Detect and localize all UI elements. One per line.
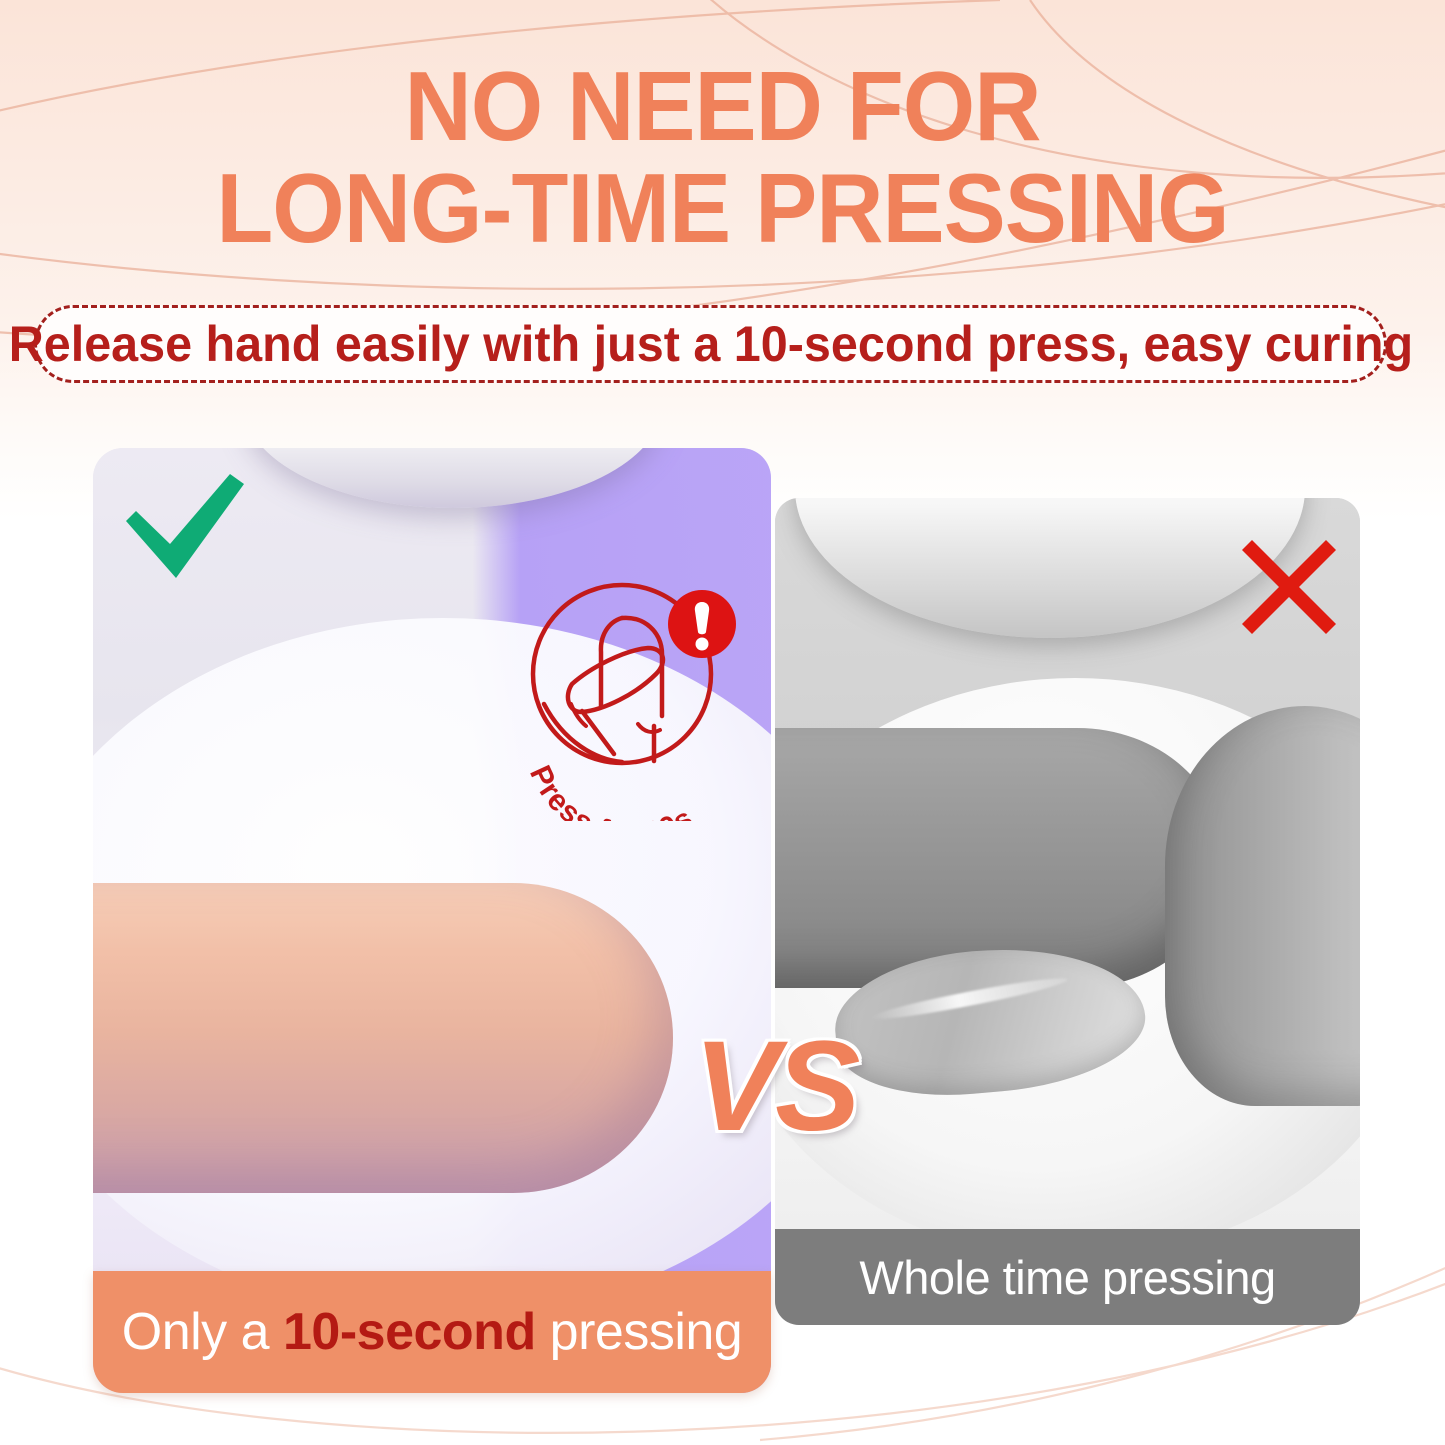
svg-text:Press for 10s: Press for 10s	[523, 761, 699, 821]
pressing-thumb	[1165, 706, 1360, 1106]
good-caption-prefix: Only a	[122, 1303, 283, 1361]
page-headline: NO NEED FOR LONG-TIME PRESSING	[36, 56, 1409, 260]
good-caption-text: Only a 10-second pressing	[122, 1302, 742, 1362]
finger-with-nail	[93, 883, 673, 1193]
uv-lamp-dome	[243, 448, 663, 508]
finger-gray	[775, 728, 1225, 988]
press-for-10s-badge: Press for 10s	[516, 556, 748, 821]
vs-label: VS	[660, 1012, 890, 1162]
headline-line-1: NO NEED FOR	[36, 56, 1409, 158]
lamp-dome-gray	[795, 498, 1305, 638]
badge-label: Press for 10s	[523, 761, 699, 821]
cross-mark-icon	[1236, 534, 1342, 640]
nail-gloss-gray	[869, 973, 1068, 1025]
subtitle-text: Release hand easily with just a 10-secon…	[8, 315, 1412, 373]
good-caption-bar: Only a 10-second pressing	[93, 1271, 771, 1393]
bad-caption-bar: Whole time pressing	[775, 1229, 1360, 1325]
check-mark-icon	[118, 466, 250, 586]
headline-line-2: LONG-TIME PRESSING	[36, 158, 1409, 260]
subtitle-banner: Release hand easily with just a 10-secon…	[34, 305, 1387, 383]
bad-caption-text: Whole time pressing	[859, 1250, 1275, 1305]
good-caption-highlight: 10-second	[283, 1303, 536, 1361]
good-caption-suffix: pressing	[536, 1303, 743, 1361]
promo-page: NO NEED FOR LONG-TIME PRESSING Release h…	[0, 0, 1445, 1445]
